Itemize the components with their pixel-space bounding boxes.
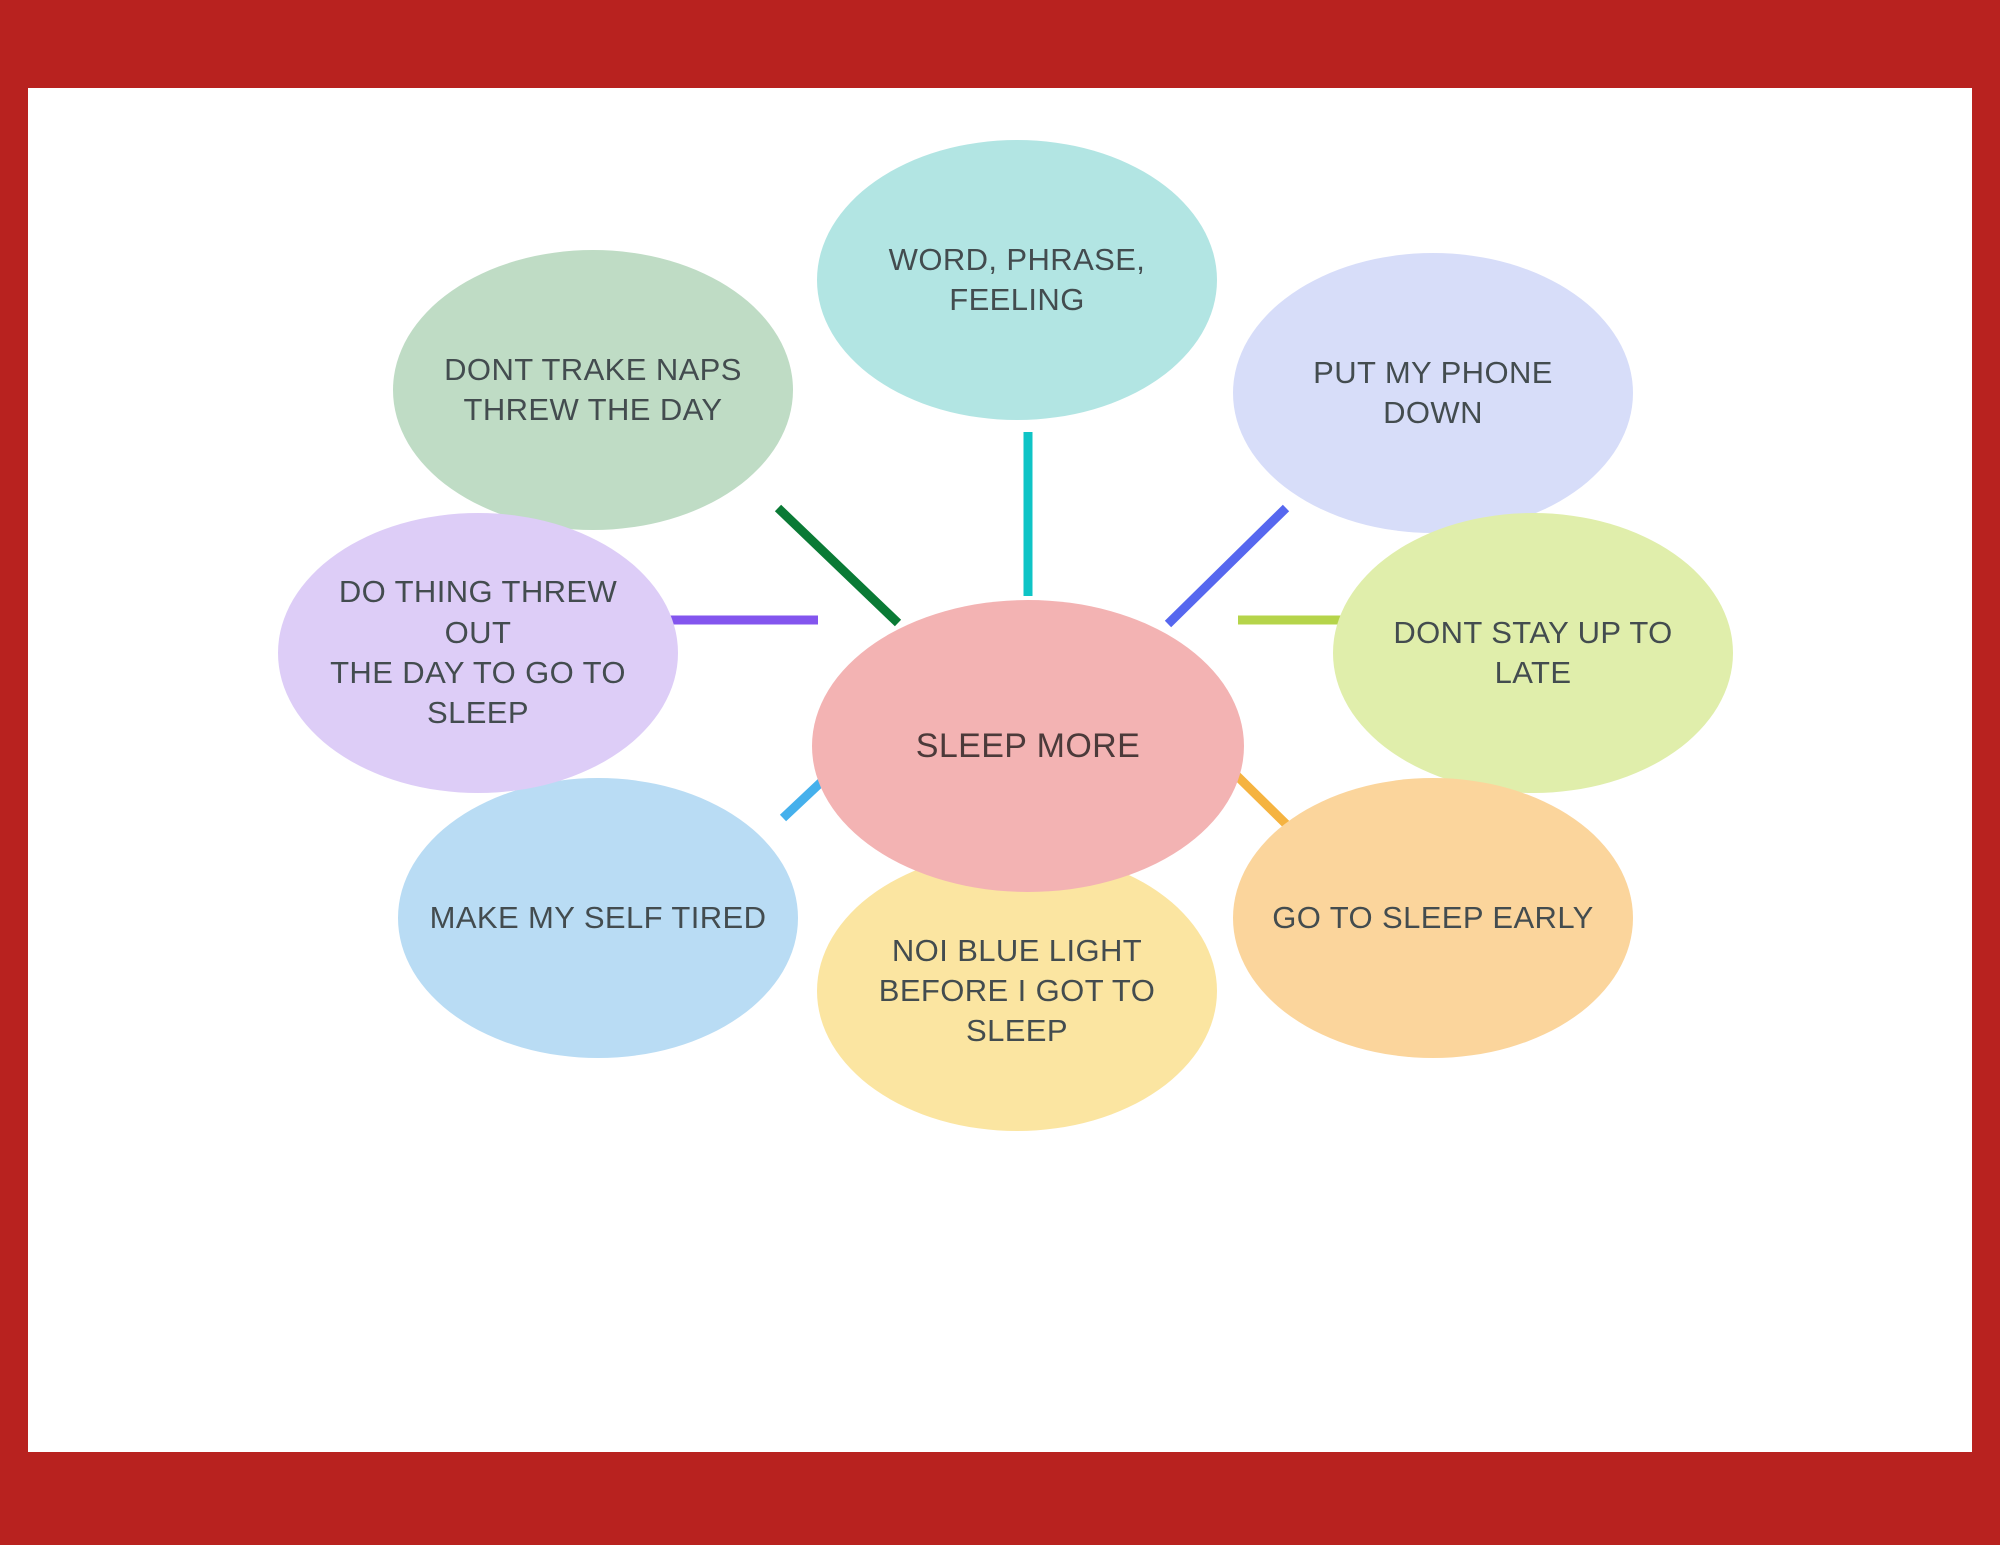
node-dont-stay-up-to-late[interactable]: DONT STAY UP TO LATE <box>1333 513 1733 793</box>
connector-dont-trake-naps <box>778 508 898 623</box>
node-label-noi-blue-light: NOI BLUE LIGHT BEFORE I GOT TO SLEEP <box>845 931 1189 1052</box>
node-make-my-self-tired[interactable]: MAKE MY SELF TIRED <box>398 778 798 1058</box>
red-border-frame: WORD, PHRASE, FEELINGDONT TRAKE NAPS THR… <box>0 0 2000 1545</box>
connector-put-my-phone-down <box>1168 508 1286 624</box>
node-label-go-to-sleep-early: GO TO SLEEP EARLY <box>1261 898 1605 938</box>
node-label-dont-trake-naps: DONT TRAKE NAPS THREW THE DAY <box>421 350 765 431</box>
node-label-dont-stay-up-to-late: DONT STAY UP TO LATE <box>1361 613 1705 694</box>
central-node[interactable]: SLEEP MORE <box>812 600 1244 892</box>
node-label-put-my-phone-down: PUT MY PHONE DOWN <box>1261 353 1605 434</box>
central-node-label: SLEEP MORE <box>842 724 1214 768</box>
node-go-to-sleep-early[interactable]: GO TO SLEEP EARLY <box>1233 778 1633 1058</box>
node-do-thing-threw-out-the-day[interactable]: DO THING THREW OUT THE DAY TO GO TO SLEE… <box>278 513 678 793</box>
node-label-do-thing-threw-out-the-day: DO THING THREW OUT THE DAY TO GO TO SLEE… <box>306 572 650 733</box>
node-noi-blue-light[interactable]: NOI BLUE LIGHT BEFORE I GOT TO SLEEP <box>817 851 1217 1131</box>
mindmap-canvas: WORD, PHRASE, FEELINGDONT TRAKE NAPS THR… <box>28 88 1972 1452</box>
node-label-word-phrase-feeling: WORD, PHRASE, FEELING <box>845 240 1189 321</box>
node-label-make-my-self-tired: MAKE MY SELF TIRED <box>426 898 770 938</box>
node-put-my-phone-down[interactable]: PUT MY PHONE DOWN <box>1233 253 1633 533</box>
node-word-phrase-feeling[interactable]: WORD, PHRASE, FEELING <box>817 140 1217 420</box>
node-dont-trake-naps[interactable]: DONT TRAKE NAPS THREW THE DAY <box>393 250 793 530</box>
